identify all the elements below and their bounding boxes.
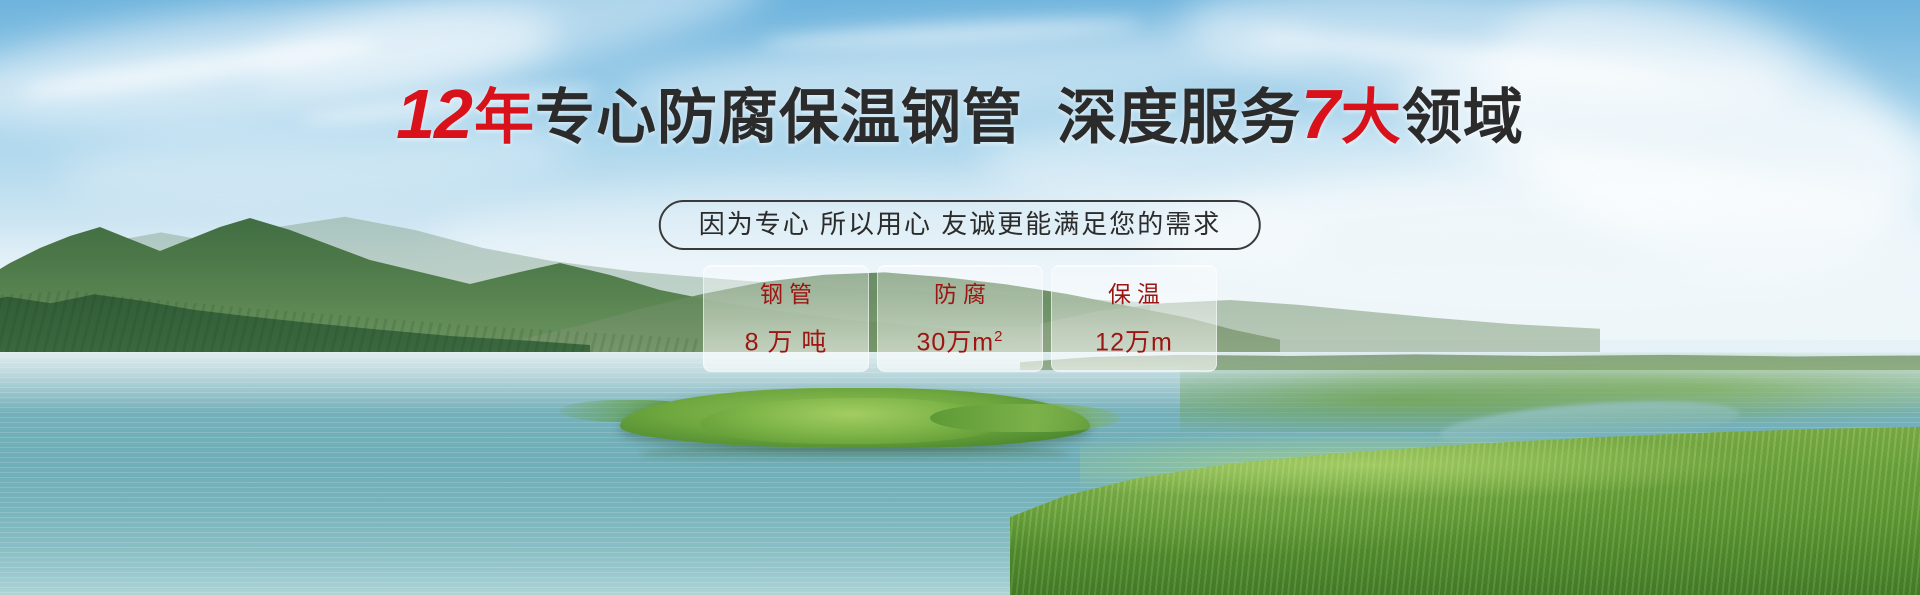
stat-card-label: 防腐 [928,281,992,307]
headline-field-text: 领域 [1402,84,1524,151]
stat-card-value: 12万m [1095,323,1173,356]
stat-card-anticorrosion: 防腐 30万m2 [877,265,1043,372]
headline-main-text: 专心防腐保温钢管 [535,84,1023,151]
banner-subtitle-pill: 因为专心 所以用心 友诚更能满足您的需求 [659,200,1261,250]
stat-card-value: 8 万 吨 [745,323,828,356]
stat-card-steel-pipe: 钢管 8 万 吨 [703,265,869,372]
headline-count-number: 7 [1301,75,1339,153]
headline-years-unit: 年 [474,84,535,151]
stat-card-value-text: 12万m [1095,328,1173,356]
stat-card-insulation: 保温 12万m [1051,265,1217,372]
stat-card-value-text: 8 万 吨 [745,328,828,356]
headline-years-number: 12 [396,75,472,153]
stat-card-label: 保温 [1102,281,1166,307]
stat-card-value-exponent: 2 [994,328,1003,345]
stat-card-label: 钢管 [754,281,818,307]
island-right-spit [930,404,1120,432]
stat-card-value-text: 30万m [917,328,995,356]
headline-service-text: 深度服务 [1057,84,1301,151]
banner-stage: 12年专心防腐保温钢管深度服务7大领域 因为专心 所以用心 友诚更能满足您的需求… [0,0,1920,595]
banner-headline: 12年专心防腐保温钢管深度服务7大领域 [0,82,1920,150]
grass-highlight [1080,430,1780,500]
headline-count-unit: 大 [1341,84,1402,151]
stat-card-value: 30万m2 [917,323,1004,356]
stat-card-group: 钢管 8 万 吨 防腐 30万m2 保温 12万m [703,265,1217,372]
